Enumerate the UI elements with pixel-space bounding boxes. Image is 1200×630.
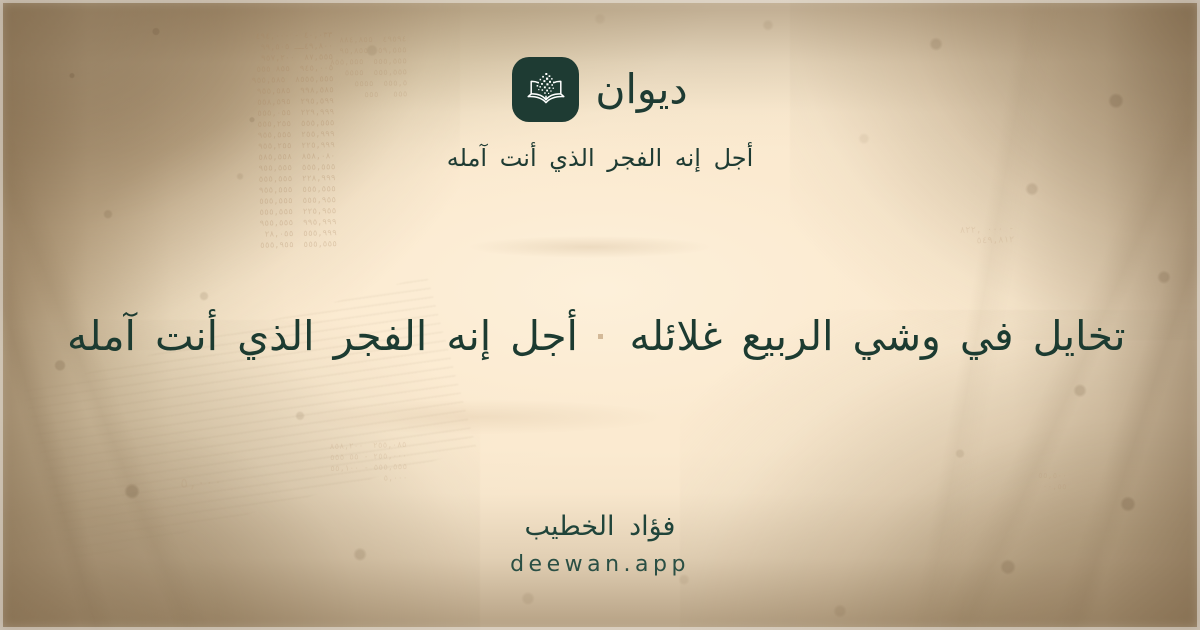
hemistich-first: أجل إنه الفجر الذي أنت آمله	[40, 306, 595, 368]
poet-name: فؤاد الخطيب	[525, 511, 676, 543]
poem-verse: تخايل في وشي الربيع غلائله أجل إنه الفجر…	[0, 306, 1200, 368]
card-content: ديوان أجل إنه الفجر الذي أنت آمله تخايل …	[0, 0, 1200, 630]
share-card: ٤٠,٠٣٣ - ٤٩٤,٠٠٠ ٤٩,٨٠٠ــ ٩٩,٥٠٥ ٨٧,٥٥٥ …	[0, 0, 1200, 630]
verse-separator-dot	[595, 332, 605, 342]
site-url[interactable]: deewan.app	[510, 552, 690, 578]
card-tagline: أجل إنه الفجر الذي أنت آمله	[447, 142, 754, 174]
brand-name: ديوان	[595, 69, 687, 110]
open-book-sparkles-icon	[512, 57, 579, 122]
card-footer: فؤاد الخطيب deewan.app	[0, 511, 1200, 578]
hemistich-second: تخايل في وشي الربيع غلائله	[605, 306, 1160, 368]
brand-lockup: ديوان	[512, 57, 687, 122]
